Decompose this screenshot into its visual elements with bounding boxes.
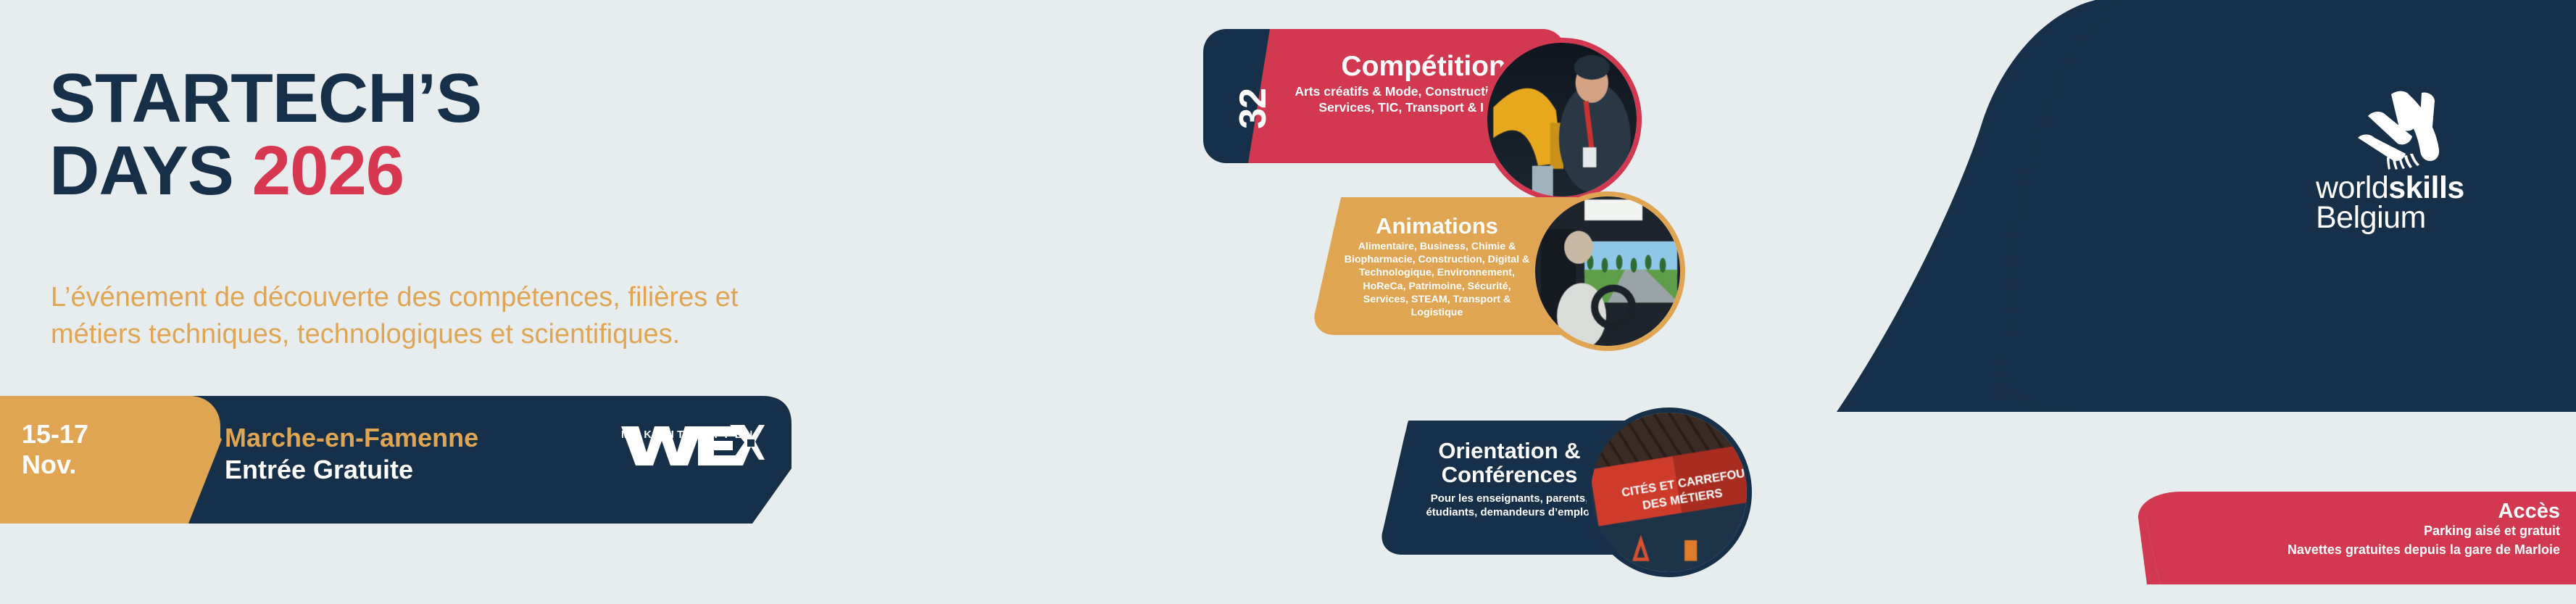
card-competitions-count: 32: [1217, 83, 1289, 134]
tagline-line-1: L’événement de découverte des compétence…: [51, 279, 863, 316]
card-orientation[interactable]: Orientation & Conférences Pour les ensei…: [1377, 421, 1761, 555]
headline-year: 2026: [252, 132, 404, 210]
card-competitions[interactable]: 32 Compétitions Arts créatifs & Mode, Co…: [1203, 29, 1653, 163]
headline-line-2: DAYS 2026: [49, 138, 481, 204]
event-info-bar: 15-17 Nov. Marche-en-Famenne Entrée Grat…: [0, 396, 805, 524]
venue-info: Marche-en-Famenne Entrée Gratuite: [225, 422, 573, 486]
acces-title: Accès: [2288, 500, 2560, 522]
card-orientation-title-line2: Conférences: [1410, 463, 1609, 487]
acces-line-2: Navettes gratuites depuis la gare de Mar…: [2288, 541, 2560, 560]
card-animations-text: Animations Alimentaire, Business, Chimie…: [1341, 215, 1533, 319]
card-orientation-subtitle: Pour les enseignants, parents, étudiants…: [1410, 492, 1609, 519]
worldskills-wordmark: worldskills Belgium: [2316, 173, 2519, 233]
card-orientation-text: Orientation & Conférences Pour les ensei…: [1410, 439, 1609, 519]
venue-city: Marche-en-Famenne: [225, 422, 573, 454]
event-banner: STARTECH’S DAYS 2026 L’événement de déco…: [0, 0, 2576, 604]
acces-line-1: Parking aisé et gratuit: [2288, 522, 2560, 541]
left-content-column: STARTECH’S DAYS 2026 L’événement de déco…: [0, 0, 906, 604]
headline-days: DAYS: [49, 132, 252, 210]
worldskills-hand-icon: [2316, 87, 2482, 170]
acces-banner: Accès Parking aisé et gratuit Navettes g…: [2138, 492, 2576, 584]
tagline-line-2: métiers techniques, technologiques et sc…: [51, 316, 863, 353]
worldskills-belgium-logo: worldskills Belgium: [2316, 87, 2519, 232]
card-animations-title: Animations: [1341, 215, 1533, 237]
date-range: 15-17: [22, 419, 152, 450]
wex-wordmark-icon: [620, 423, 765, 468]
card-orientation-photo: [1586, 408, 1752, 577]
venue-entry: Entrée Gratuite: [225, 454, 573, 486]
feature-cards: 32 Compétitions Arts créatifs & Mode, Co…: [1196, 0, 1863, 604]
card-animations-subtitle: Alimentaire, Business, Chimie & Biopharm…: [1341, 240, 1533, 319]
page-title: STARTECH’S DAYS 2026: [49, 65, 481, 204]
tagline: L’événement de découverte des compétence…: [51, 279, 863, 354]
card-animations-photo: [1530, 191, 1685, 351]
headline-line-1: STARTECH’S: [49, 65, 481, 132]
worldskills-country: Belgium: [2316, 203, 2519, 233]
acces-text: Accès Parking aisé et gratuit Navettes g…: [2288, 500, 2560, 560]
wex-logo: MAKE IT HAPPEN: [620, 423, 772, 499]
card-animations[interactable]: Animations Alimentaire, Business, Chimie…: [1308, 197, 1671, 335]
card-orientation-title-line1: Orientation &: [1410, 439, 1609, 463]
card-competitions-photo: [1482, 38, 1642, 202]
event-dates: 15-17 Nov.: [22, 419, 152, 481]
date-month: Nov.: [22, 450, 152, 480]
